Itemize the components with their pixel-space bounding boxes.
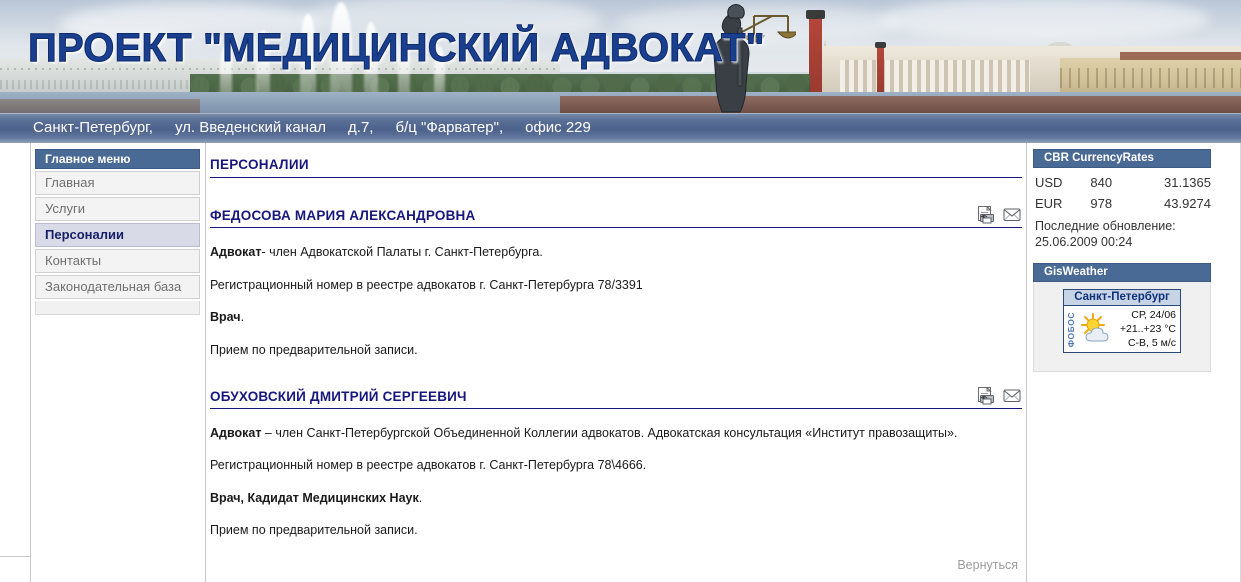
layout-divider — [1026, 143, 1027, 582]
cloud-shape — [880, 0, 1210, 42]
person-paragraph: Врач. — [210, 310, 1022, 326]
address-house: д.7, — [348, 119, 373, 136]
person-paragraph: Врач, Кадидат Медицинских Наук. — [210, 491, 1022, 507]
address-bar: Санкт-Петербург,ул. Введенский каналд.7,… — [0, 113, 1241, 143]
currency-row: EUR 978 43.9274 — [1033, 193, 1211, 214]
article-tools — [977, 206, 1022, 224]
weather-readings: СР, 24/06 +21..+23 °C С-В, 5 м/с — [1115, 306, 1180, 352]
address-office: офис 229 — [525, 119, 591, 136]
page-title: ПЕРСОНАЛИИ — [210, 157, 1022, 178]
paragraph-text: . — [419, 491, 422, 505]
weather-body: ФОБОС — [1064, 306, 1180, 352]
banner-title: ПРОЕКТ "МЕДИЦИНСКИЙ АДВОКАТ" — [28, 26, 765, 71]
weather-day: СР, 24/06 — [1131, 308, 1176, 322]
paragraph-text: . — [241, 310, 244, 324]
currency-rate: 31.1365 — [1148, 175, 1211, 190]
person-paragraph: Адвокат- член Адвокатской Палаты г. Санк… — [210, 245, 1022, 261]
weather-widget: GisWeather Санкт-Петербург ФОБОС — [1033, 263, 1211, 372]
currency-widget-body: USD 840 31.1365 EUR 978 43.9274 Последни… — [1033, 168, 1211, 256]
person-entry: ОБУХОВСКИЙ ДМИТРИЙ СЕРГЕЕВИЧ — [210, 389, 1022, 540]
sidebar-item-zakonodatelnaya-baza[interactable]: Законодательная база — [35, 275, 200, 299]
sidebar-item-glavnaya[interactable]: Главная — [35, 171, 200, 195]
person-entry: ФЕДОСОВА МАРИЯ АЛЕКСАНДРОВНА — [210, 208, 1022, 359]
paragraph-text: Прием по предварительной записи. — [210, 343, 418, 357]
email-icon[interactable] — [1003, 387, 1022, 405]
weather-temperature: +21..+23 °C — [1120, 322, 1176, 336]
currency-number: 840 — [1090, 175, 1147, 190]
layout-divider — [0, 556, 30, 557]
address-city: Санкт-Петербург, — [33, 119, 153, 136]
banner-embankment — [560, 96, 1241, 113]
right-sidebar: CBR CurrencyRates USD 840 31.1365 EUR 97… — [1033, 149, 1211, 372]
paragraph-text: – член Санкт-Петербургской Объединенной … — [261, 426, 957, 440]
article-tools — [977, 387, 1022, 405]
rostral-column — [877, 48, 884, 96]
paragraph-text: Прием по предварительной записи. — [210, 523, 418, 537]
weather-provider: ФОБОС — [1064, 306, 1077, 352]
currency-code: USD — [1035, 175, 1090, 190]
paragraph-bold: Врач, Кадидат Медицинских Наук — [210, 491, 419, 505]
rostral-column — [809, 18, 822, 96]
paragraph-text: Регистрационный номер в реестре адвокато… — [210, 458, 646, 472]
person-paragraph: Прием по предварительной записи. — [210, 523, 1022, 539]
sidebar-item-personalii[interactable]: Персоналии — [35, 223, 200, 247]
main-menu-footer — [35, 301, 200, 315]
paragraph-text: - член Адвокатской Палаты г. Санкт-Петер… — [261, 245, 542, 259]
weather-condition-icon-wrap — [1077, 306, 1115, 352]
site-banner: ПРОЕКТ "МЕДИЦИНСКИЙ АДВОКАТ" — [0, 0, 1241, 113]
banner-colonnade — [840, 60, 1030, 96]
currency-widget-header: CBR CurrencyRates — [1033, 149, 1211, 168]
print-icon[interactable] — [977, 206, 996, 224]
person-name-heading: ФЕДОСОВА МАРИЯ АЛЕКСАНДРОВНА — [210, 208, 1022, 228]
layout-divider — [205, 143, 206, 582]
rostral-column-top — [806, 10, 825, 19]
layout-divider — [30, 143, 31, 582]
content-area: Главное меню Главная Услуги Персоналии К… — [0, 143, 1241, 582]
weather-provider-label: ФОБОС — [1066, 312, 1076, 347]
paragraph-text: Регистрационный номер в реестре адвокато… — [210, 278, 643, 292]
currency-code: EUR — [1035, 196, 1090, 211]
currency-updated-label: Последние обновление: — [1033, 219, 1211, 235]
person-name-heading: ОБУХОВСКИЙ ДМИТРИЙ СЕРГЕЕВИЧ — [210, 389, 1022, 409]
weather-widget-header: GisWeather — [1033, 263, 1211, 282]
address-building: б/ц "Фарватер", — [395, 119, 503, 136]
paragraph-bold: Адвокат — [210, 426, 261, 440]
currency-row: USD 840 31.1365 — [1033, 172, 1211, 193]
currency-widget: CBR CurrencyRates USD 840 31.1365 EUR 97… — [1033, 149, 1211, 256]
page-root: ПРОЕКТ "МЕДИЦИНСКИЙ АДВОКАТ" Санкт-Петер… — [0, 0, 1241, 582]
banner-embankment — [0, 99, 200, 113]
person-paragraph: Регистрационный номер в реестре адвокато… — [210, 278, 1022, 294]
paragraph-bold: Врач — [210, 310, 241, 324]
person-paragraph: Адвокат – член Санкт-Петербургской Объед… — [210, 426, 1022, 442]
sidebar-item-kontakty[interactable]: Контакты — [35, 249, 200, 273]
weather-wind: С-В, 5 м/с — [1128, 336, 1176, 350]
weather-city: Санкт-Петербург — [1064, 290, 1180, 306]
currency-updated-value: 25.06.2009 00:24 — [1033, 235, 1211, 251]
weather-widget-body: Санкт-Петербург ФОБОС — [1033, 282, 1211, 372]
currency-rate: 43.9274 — [1148, 196, 1211, 211]
back-link[interactable]: Вернуться — [957, 558, 1018, 572]
sun-behind-cloud-icon — [1079, 312, 1113, 346]
email-icon[interactable] — [1003, 206, 1022, 224]
sidebar-item-uslugi[interactable]: Услуги — [35, 197, 200, 221]
rostral-column-top — [875, 42, 886, 48]
person-paragraph: Прием по предварительной записи. — [210, 343, 1022, 359]
paragraph-bold: Адвокат — [210, 245, 261, 259]
address-text: Санкт-Петербург,ул. Введенский каналд.7,… — [33, 119, 613, 136]
currency-number: 978 — [1090, 196, 1147, 211]
person-paragraph: Регистрационный номер в реестре адвокато… — [210, 458, 1022, 474]
print-icon[interactable] — [977, 387, 996, 405]
gisweather-box[interactable]: Санкт-Петербург ФОБОС — [1063, 289, 1181, 353]
address-street: ул. Введенский канал — [175, 119, 326, 136]
main-menu: Главное меню Главная Услуги Персоналии К… — [35, 149, 200, 315]
main-column: ПЕРСОНАЛИИ ФЕДОСОВА МАРИЯ АЛЕКСАНДРОВНА — [210, 143, 1022, 539]
main-menu-header: Главное меню — [35, 149, 200, 169]
banner-red-roof — [1120, 52, 1241, 60]
